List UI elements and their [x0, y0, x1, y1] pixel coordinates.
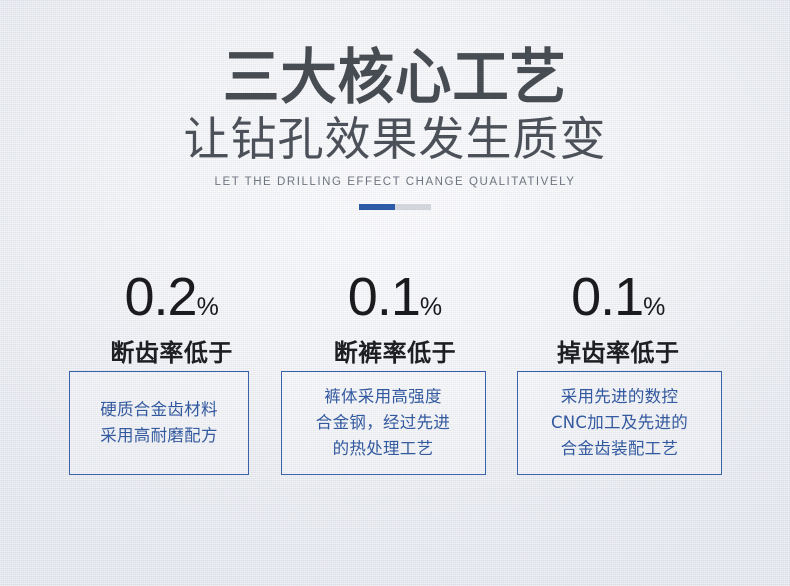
page-subtitle-english: LET THE DRILLING EFFECT CHANGE QUALITATI… [0, 176, 790, 188]
description-box-1: 硬质合金齿材料 采用高耐磨配方 [69, 371, 249, 475]
stat-value-1: 0.2% [60, 268, 283, 336]
stat-value-2: 0.1% [283, 268, 506, 336]
divider-muted-segment [395, 204, 431, 210]
stat-label-3: 掉齿率低于 [507, 338, 730, 368]
stat-label-2: 断裤率低于 [283, 338, 506, 368]
promo-banner: 三大核心工艺 让钻孔效果发生质变 LET THE DRILLING EFFECT… [0, 0, 790, 586]
page-title: 三大核心工艺 [24, 46, 767, 110]
stat-number-text-2: 0.1 [348, 267, 420, 327]
percent-sign-3: % [643, 293, 665, 321]
divider [359, 204, 431, 210]
description-text-1: 硬质合金齿材料 采用高耐磨配方 [100, 397, 218, 449]
stat-number-text-1: 0.2 [124, 267, 196, 327]
stats-row: 0.2% 断齿率低于 0.1% 断裤率低于 0.1% 掉齿率低于 [60, 268, 730, 368]
percent-sign-2: % [420, 293, 442, 321]
divider-accent-segment [359, 204, 395, 210]
stat-column-1: 0.2% 断齿率低于 [60, 268, 283, 368]
description-box-3: 采用先进的数控 CNC加工及先进的 合金齿装配工艺 [517, 371, 722, 475]
stat-number-text-3: 0.1 [571, 267, 643, 327]
description-box-row: 硬质合金齿材料 采用高耐磨配方 裤体采用高强度 合金钢，经过先进 的热处理工艺 … [69, 371, 722, 475]
heading-block: 三大核心工艺 让钻孔效果发生质变 LET THE DRILLING EFFECT… [0, 46, 790, 210]
stat-column-3: 0.1% 掉齿率低于 [507, 268, 730, 368]
stat-value-3: 0.1% [507, 268, 730, 336]
stat-column-2: 0.1% 断裤率低于 [283, 268, 506, 368]
description-text-3: 采用先进的数控 CNC加工及先进的 合金齿装配工艺 [551, 384, 688, 462]
description-text-2: 裤体采用高强度 合金钢，经过先进 的热处理工艺 [316, 384, 450, 462]
stat-label-1: 断齿率低于 [60, 338, 283, 368]
description-box-2: 裤体采用高强度 合金钢，经过先进 的热处理工艺 [281, 371, 486, 475]
percent-sign-1: % [197, 293, 219, 321]
page-subtitle: 让钻孔效果发生质变 [0, 112, 790, 166]
